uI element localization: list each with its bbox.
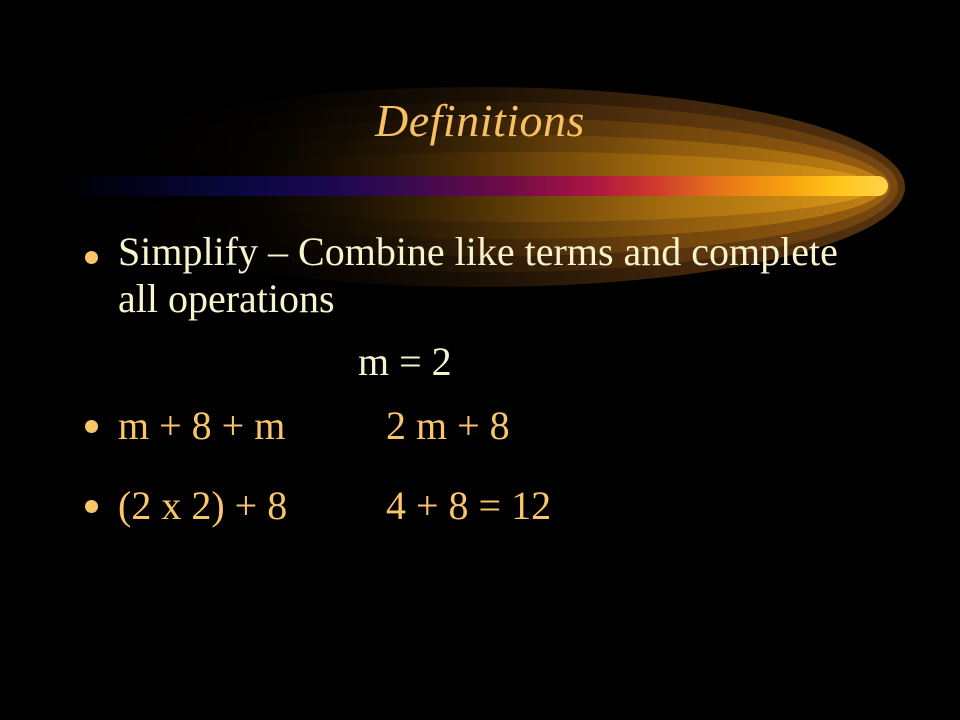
sub-line-m-equals: m = 2	[0, 340, 960, 384]
slide-body-content: Simplify – Combine like terms and comple…	[0, 228, 960, 528]
expression-1-right: 2 m + 8	[386, 404, 510, 448]
expression-1-left: m + 8 + m	[118, 404, 386, 448]
bullet-point-icon	[85, 500, 98, 513]
title-block: Definitions	[0, 97, 960, 145]
expression-row-2: (2 x 2) + 84 + 8 = 12	[118, 484, 930, 528]
bullet-item-expression-1: m + 8 + m2 m + 8	[0, 404, 960, 448]
bullet-item-expression-2: (2 x 2) + 84 + 8 = 12	[0, 484, 960, 528]
title-gradient-rule	[58, 176, 888, 196]
bullet-point-icon	[85, 420, 98, 433]
bullet-point-icon	[85, 251, 98, 264]
expression-2-right: 4 + 8 = 12	[386, 484, 551, 528]
bullet-item-simplify: Simplify – Combine like terms and comple…	[0, 228, 960, 322]
bullet-text-simplify: Simplify – Combine like terms and comple…	[118, 228, 878, 322]
expression-row-1: m + 8 + m2 m + 8	[118, 404, 930, 448]
sub-line-text-m-equals: m = 2	[118, 340, 930, 384]
page-title: Definitions	[375, 97, 585, 145]
expression-2-left: (2 x 2) + 8	[118, 484, 386, 528]
presentation-slide: Definitions Simplify – Combine like term…	[0, 0, 960, 720]
